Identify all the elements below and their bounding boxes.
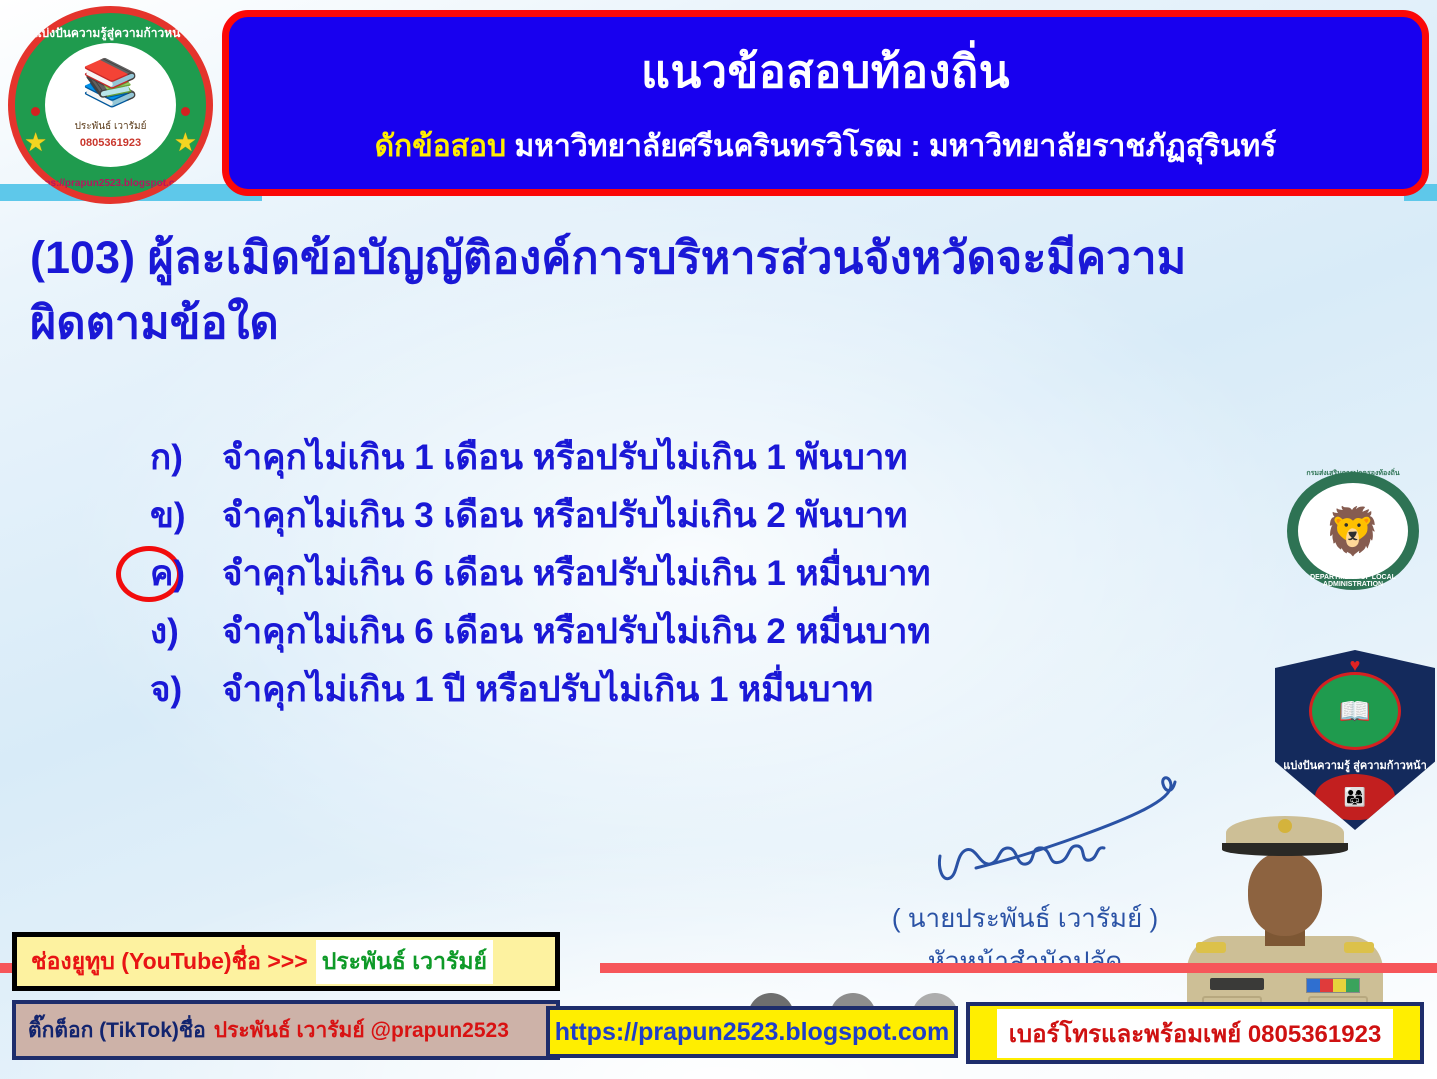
choice-text-2: จำคุกไม่เกิน 6 เดือน หรือปรับไม่เกิน 1 ห… (222, 556, 931, 591)
phone-info-box[interactable]: เบอร์โทรและพร้อมเพย์ 0805361923 (966, 1002, 1424, 1064)
blog-url-text: https://prapun2523.blogspot.com (555, 1018, 949, 1047)
choice-item-4[interactable]: จ) จำคุกไม่เกิน 1 ปี หรือปรับไม่เกิน 1 ห… (150, 672, 1210, 730)
dla-seal-text-top: กรมส่งเสริมการปกครองท้องถิ่น (1287, 468, 1419, 479)
choice-letter-2: ค) (150, 556, 222, 591)
brand-logo-phone: 0805361923 (45, 137, 176, 149)
choice-letter-1: ข) (150, 498, 222, 533)
officer-ribbon-bar (1306, 978, 1360, 993)
question-number: (103) (30, 232, 135, 283)
officer-face (1248, 852, 1322, 936)
choice-letter-0: ก) (150, 440, 222, 475)
signature-block: ( นายประพันธ์ เวารัมย์ ) หัวหน้าสำนักปลั… (860, 780, 1190, 982)
choice-list: ก) จำคุกไม่เกิน 1 เดือน หรือปรับไม่เกิน … (150, 440, 1210, 730)
header-subtitle: ดักข้อสอบ มหาวิทยาลัยศรีนครินทรวิโรฒ : ม… (375, 131, 1277, 163)
officer-epaulet-right (1344, 942, 1374, 953)
choice-text-4: จำคุกไม่เกิน 1 ปี หรือปรับไม่เกิน 1 หมื่… (222, 672, 873, 707)
header-subtitle-rest: มหาวิทยาลัยศรีนครินทรวิโรฒ : มหาวิทยาลัย… (514, 130, 1276, 163)
brand-logo-dot-right (181, 107, 190, 116)
youtube-label: ช่องยูทูบ (YouTube)ชื่อ >>> (31, 944, 308, 980)
red-rule-middle (600, 963, 1260, 973)
header-subtitle-highlight: ดักข้อสอบ (375, 130, 507, 163)
red-rule-right (1260, 963, 1437, 973)
officer-hat-badge-icon (1278, 819, 1292, 833)
slide-canvas: แบ่งปันความรู้สู่ความก้าวหน้า https://pr… (0, 0, 1437, 1079)
dla-seal-text-bottom: DEPARTMENT OF LOCAL ADMINISTRATION (1287, 574, 1419, 588)
choice-item-3[interactable]: ง) จำคุกไม่เกิน 6 เดือน หรือปรับไม่เกิน … (150, 614, 1210, 672)
choice-text-0: จำคุกไม่เกิน 1 เดือน หรือปรับไม่เกิน 1 พ… (222, 440, 908, 475)
brand-logo-arc-bottom: https://prapun2523.blogspot.com (15, 178, 206, 189)
question-text: (103) ผู้ละเมิดข้อบัญญัติองค์การบริหารส่… (30, 225, 1210, 356)
tiktok-label: ติ๊กต็อก (TikTok)ชื่อ (28, 1014, 206, 1047)
choice-letter-3: ง) (150, 614, 222, 649)
youtube-info-box[interactable]: ช่องยูทูบ (YouTube)ชื่อ >>> ประพันธ์ เวา… (12, 932, 560, 991)
page-title: แนวข้อสอบท้องถิ่น (641, 48, 1010, 95)
officer-nametag (1210, 978, 1264, 990)
officer-epaulet-left (1196, 942, 1226, 953)
shield-motto: แบ่งปันความรู้ สู่ความก้าวหน้า (1275, 756, 1435, 774)
brand-logo-inner: 📚 ประพันธ์ เวารัมย์ 0805361923 (45, 43, 176, 167)
lion-icon: 🦁 (1324, 508, 1381, 554)
choice-text-3: จำคุกไม่เกิน 6 เดือน หรือปรับไม่เกิน 2 ห… (222, 614, 931, 649)
header-banner: แนวข้อสอบท้องถิ่น ดักข้อสอบ มหาวิทยาลัยศ… (222, 10, 1429, 196)
books-icon: 📚 (45, 55, 176, 110)
brand-logo-ring: แบ่งปันความรู้สู่ความก้าวหน้า https://pr… (15, 13, 206, 197)
dla-seal-logo: กรมส่งเสริมการปกครองท้องถิ่น 🦁 DEPARTMEN… (1287, 472, 1419, 590)
youtube-channel-name: ประพันธ์ เวารัมย์ (316, 940, 493, 984)
phone-text: เบอร์โทรและพร้อมเพย์ 0805361923 (997, 1009, 1394, 1058)
badge-circle: 📖 (1309, 672, 1401, 750)
choice-text-1: จำคุกไม่เกิน 3 เดือน หรือปรับไม่เกิน 2 พ… (222, 498, 908, 533)
shield-badge: ♥ 📖 แบ่งปันความรู้ สู่ความก้าวหน้า 👨‍👩‍👧 (1275, 650, 1435, 830)
choice-item-0[interactable]: ก) จำคุกไม่เกิน 1 เดือน หรือปรับไม่เกิน … (150, 440, 1210, 498)
choice-letter-4: จ) (150, 672, 222, 707)
star-icon-left: ★ (24, 129, 47, 155)
blog-url-box[interactable]: https://prapun2523.blogspot.com (546, 1006, 958, 1058)
signature-title: หัวหน้าสำนักปลัด (860, 941, 1190, 982)
choice-item-1[interactable]: ข) จำคุกไม่เกิน 3 เดือน หรือปรับไม่เกิน … (150, 498, 1210, 556)
signature-name: ( นายประพันธ์ เวารัมย์ ) (860, 898, 1190, 939)
brand-logo-dot-left (31, 107, 40, 116)
brand-logo-arc-top: แบ่งปันความรู้สู่ความก้าวหน้า (15, 24, 206, 43)
choice-item-2[interactable]: ค) จำคุกไม่เกิน 6 เดือน หรือปรับไม่เกิน … (150, 556, 1210, 614)
signature-stroke-icon (880, 770, 1180, 890)
star-icon-right: ★ (174, 129, 197, 155)
officer-hat-brim (1222, 843, 1348, 856)
brand-logo-name: ประพันธ์ เวารัมย์ (45, 119, 176, 134)
brand-logo: แบ่งปันความรู้สู่ความก้าวหน้า https://pr… (8, 6, 213, 204)
tiktok-info-box[interactable]: ติ๊กต็อก (TikTok)ชื่อ ประพันธ์ เวารัมย์ … (12, 1000, 560, 1060)
tiktok-handle: ประพันธ์ เวารัมย์ @prapun2523 (214, 1014, 509, 1047)
question-body: ผู้ละเมิดข้อบัญญัติองค์การบริหารส่วนจังห… (30, 232, 1186, 348)
